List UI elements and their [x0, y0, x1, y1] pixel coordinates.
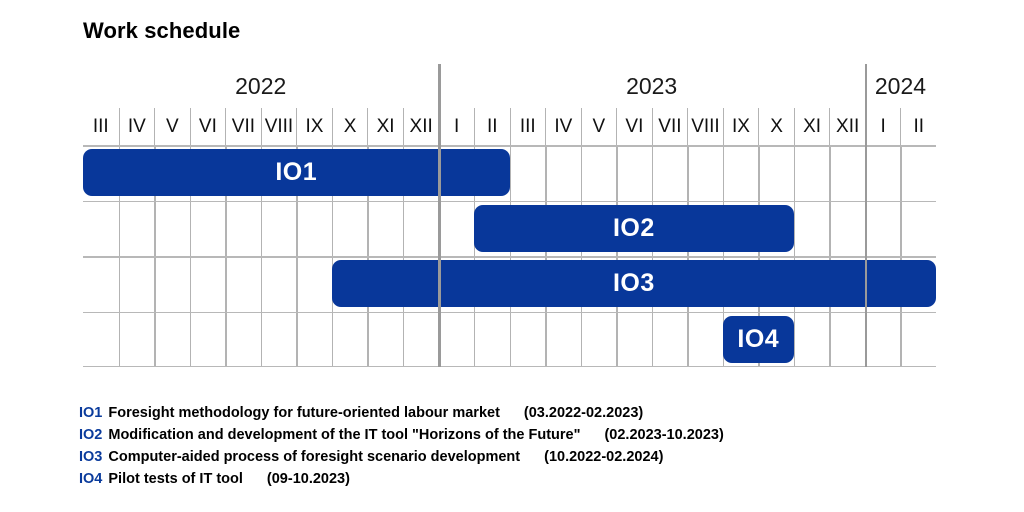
legend-description: Computer-aided process of foresight scen…: [108, 449, 520, 465]
task-bar-label: IO1: [275, 158, 317, 187]
task-bar-label: IO2: [613, 214, 655, 243]
task-bar-io1[interactable]: IO1: [83, 149, 510, 196]
month-label-16: VII: [652, 108, 688, 145]
month-label-12: III: [510, 108, 546, 145]
month-label-4: VII: [225, 108, 261, 145]
month-label-17: VIII: [687, 108, 723, 145]
legend-dates: (09-10.2023): [267, 471, 350, 487]
month-label-5: VIII: [261, 108, 297, 145]
month-label-0: III: [83, 108, 119, 145]
legend-description: Modification and development of the IT t…: [108, 427, 580, 443]
month-label-21: XII: [829, 108, 865, 145]
month-label-1: IV: [119, 108, 155, 145]
task-bar-io2[interactable]: IO2: [474, 205, 794, 252]
year-header-row: 202220232024: [83, 64, 936, 108]
legend-code: IO1: [79, 405, 102, 421]
year-separator-2023: [438, 64, 441, 367]
task-bar-io4[interactable]: IO4: [723, 316, 794, 363]
legend-item-io3: IO3Computer-aided process of foresight s…: [79, 449, 959, 471]
legend-dates: (10.2022-02.2024): [544, 449, 663, 465]
task-bar-label: IO4: [737, 325, 779, 354]
legend-code: IO2: [79, 427, 102, 443]
month-label-13: IV: [545, 108, 581, 145]
month-label-6: IX: [296, 108, 332, 145]
month-label-9: XII: [403, 108, 439, 145]
legend-dates: (03.2022-02.2023): [524, 405, 643, 421]
month-label-18: IX: [723, 108, 759, 145]
month-label-22: I: [865, 108, 901, 145]
month-header-row: IIIIVVVIVIIVIIIIXXXIXIIIIIIIIIVVVIVIIVII…: [83, 108, 936, 145]
task-bars: IO1IO2IO3IO4: [83, 145, 936, 367]
year-separator-2024: [865, 64, 868, 367]
task-bar-io3[interactable]: IO3: [332, 260, 936, 307]
month-label-10: I: [438, 108, 474, 145]
legend-dates: (02.2023-10.2023): [604, 427, 723, 443]
legend-item-io1: IO1Foresight methodology for future-orie…: [79, 405, 959, 427]
month-label-7: X: [332, 108, 368, 145]
legend-code: IO3: [79, 449, 102, 465]
month-label-14: V: [581, 108, 617, 145]
gantt-chart: 202220232024 IIIIVVVIVIIVIIIIXXXIXIIIIII…: [83, 64, 936, 367]
month-label-2: V: [154, 108, 190, 145]
legend-code: IO4: [79, 471, 102, 487]
month-label-11: II: [474, 108, 510, 145]
month-label-15: VI: [616, 108, 652, 145]
year-label-2022: 2022: [83, 64, 438, 108]
legend-item-io2: IO2Modification and development of the I…: [79, 427, 959, 449]
year-label-2023: 2023: [438, 64, 865, 108]
year-label-2024: 2024: [865, 64, 936, 108]
month-label-20: XI: [794, 108, 830, 145]
page-title: Work schedule: [83, 18, 240, 44]
legend-description: Foresight methodology for future-oriente…: [108, 405, 500, 421]
task-bar-label: IO3: [613, 269, 655, 298]
legend-description: Pilot tests of IT tool: [108, 471, 243, 487]
month-label-19: X: [758, 108, 794, 145]
legend: IO1Foresight methodology for future-orie…: [79, 405, 959, 493]
month-label-3: VI: [190, 108, 226, 145]
month-label-8: XI: [367, 108, 403, 145]
legend-item-io4: IO4Pilot tests of IT tool(09-10.2023): [79, 471, 959, 493]
month-label-23: II: [900, 108, 936, 145]
